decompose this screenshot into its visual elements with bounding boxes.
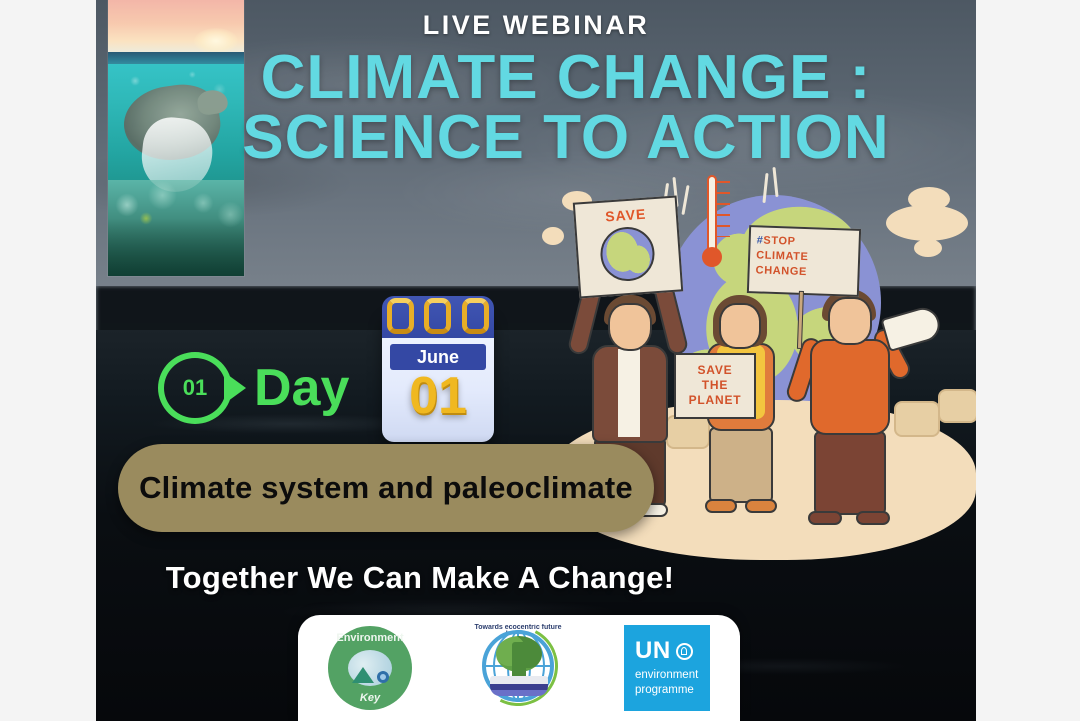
thermometer-icon: [702, 175, 722, 279]
head: [608, 303, 652, 351]
shoe: [705, 499, 737, 513]
logo-envkey-glyph-icon: [348, 650, 392, 686]
shoe: [856, 511, 890, 525]
cloud-icon: [542, 227, 564, 245]
protest-sign-save-the-planet: SAVE THE PLANET: [674, 353, 756, 419]
logo-un-row: UN: [635, 639, 693, 663]
page-canvas: LIVE WEBINAR CLIMATE CHANGE : SCIENCE TO…: [0, 0, 1080, 721]
cloud-icon: [908, 187, 950, 211]
logo-eco-open-book-icon: [490, 676, 548, 696]
logo-un-line2: environment: [635, 668, 698, 682]
kicker-live-webinar: LIVE WEBINAR: [96, 10, 976, 41]
day-badge: 01 Day: [158, 352, 349, 424]
logo-un-wordmark: UN: [635, 639, 671, 663]
un-emblem-icon: [676, 643, 693, 660]
tree-stump-icon: [938, 389, 976, 423]
calendar-rings: [382, 298, 494, 328]
thermometer-ticks: [716, 181, 730, 237]
page-title: CLIMATE CHANGE : SCIENCE TO ACTION: [156, 48, 976, 168]
heat-wave-icon: [681, 185, 689, 215]
calendar-day: 01: [382, 370, 494, 422]
calendar-ring: [424, 298, 451, 334]
day-number: 01: [183, 375, 207, 401]
sign-save-label: SAVE: [575, 204, 676, 227]
sign-stop-text: STOP CLIMATE CHANGE: [755, 235, 808, 278]
legs: [709, 427, 773, 503]
shoe: [745, 499, 777, 513]
shoe: [808, 511, 842, 525]
logo-un-line3: programme: [635, 683, 694, 697]
tagline: Together We Can Make A Change!: [140, 560, 700, 596]
protester-right: [798, 275, 908, 525]
webinar-poster: LIVE WEBINAR CLIMATE CHANGE : SCIENCE TO…: [96, 0, 976, 721]
thermometer-bulb: [702, 247, 722, 267]
torso: [810, 339, 890, 435]
topic-band: Climate system and paleoclimate: [118, 444, 654, 532]
logo-un-environment-programme: UN environment programme: [624, 625, 710, 711]
logo-envkey-top-text: Environment: [328, 632, 412, 644]
calendar-ring: [462, 298, 489, 334]
day-number-ring: 01: [158, 352, 232, 424]
sponsor-logo-card: Environment Key Towards ecocentric futur…: [298, 615, 740, 721]
cloud-icon: [914, 239, 942, 257]
logo-ecocentric-future-leaders: Towards ecocentric future leaders: [472, 624, 564, 712]
topic-text: Climate system and paleoclimate: [139, 470, 633, 506]
calendar-ring: [387, 298, 414, 334]
legs: [814, 431, 886, 515]
shirt: [618, 349, 640, 437]
head: [828, 297, 872, 345]
protest-sign-save: SAVE: [573, 195, 683, 298]
logo-envkey-bottom-text: Key: [328, 692, 412, 704]
calendar-widget: June 01: [382, 296, 494, 442]
day-label: Day: [254, 362, 349, 414]
sign-stop-label: #STOP CLIMATE CHANGE: [755, 233, 854, 281]
logo-environment-key: Environment Key: [328, 626, 412, 710]
head: [719, 303, 761, 349]
sign-planet-label: SAVE THE PLANET: [676, 363, 754, 408]
sign-globe-icon: [599, 225, 657, 283]
plastic-bottles: [108, 180, 244, 276]
protest-sign-stop-climate-change: #STOP CLIMATE CHANGE: [747, 225, 861, 297]
